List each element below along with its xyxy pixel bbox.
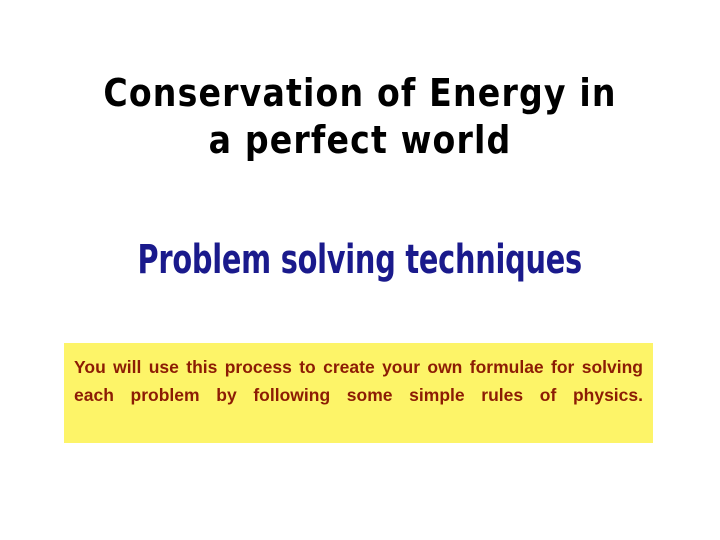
- callout-box: You will use this process to create your…: [64, 343, 653, 443]
- title-line-2: a perfect world: [50, 117, 671, 164]
- title-line-1: Conservation of Energy in: [50, 70, 671, 117]
- page-subtitle: Problem solving techniques: [40, 238, 680, 282]
- page-title: Conservation of Energy in a perfect worl…: [40, 70, 680, 164]
- slide-canvas: Conservation of Energy in a perfect worl…: [0, 0, 720, 540]
- callout-text: You will use this process to create your…: [74, 353, 643, 437]
- subtitle-text: Problem solving techniques: [138, 238, 582, 282]
